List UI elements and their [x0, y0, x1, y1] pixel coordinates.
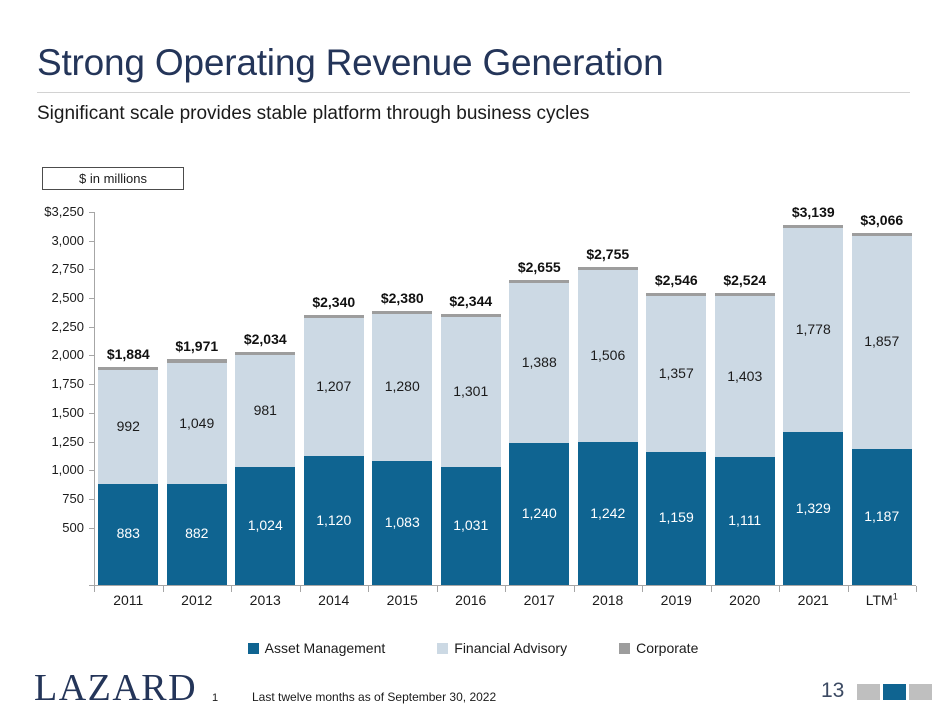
stacked-bar-chart: $3,2503,0002,7502,5002,2502,0001,7501,50… — [0, 0, 946, 727]
x-axis-label: 2015 — [368, 592, 437, 608]
y-axis-tick-label: $3,250 — [18, 204, 84, 219]
bar-segment-corporate[interactable] — [441, 314, 501, 317]
y-axis-tick — [89, 212, 95, 213]
bar-segment-asset-management[interactable]: 1,159 — [646, 452, 706, 585]
bar-value-label: 883 — [98, 525, 158, 541]
y-axis-tick-label: 2,500 — [18, 290, 84, 305]
y-axis-tick — [89, 499, 95, 500]
y-axis-tick-label: 1,500 — [18, 405, 84, 420]
x-axis-tick — [642, 586, 643, 592]
x-axis-label: 2017 — [505, 592, 574, 608]
bar-segment-asset-management[interactable]: 1,242 — [578, 442, 638, 585]
bar-group[interactable]: 1,024981$2,034 — [235, 352, 295, 585]
bar-group[interactable]: 1,1201,207$2,340 — [304, 315, 364, 585]
bar-value-label: 1,506 — [578, 347, 638, 363]
x-axis-tick — [779, 586, 780, 592]
bar-segment-financial-advisory[interactable]: 1,049 — [167, 363, 227, 483]
lazard-logo: LAZARD — [34, 669, 197, 707]
bar-value-label: 1,031 — [441, 517, 501, 533]
bar-value-label: 1,242 — [578, 505, 638, 521]
footnote-marker: 1 — [212, 692, 218, 704]
y-axis-tick-label: 1,250 — [18, 434, 84, 449]
y-axis-labels: $3,2503,0002,7502,5002,2502,0001,7501,50… — [12, 0, 84, 727]
bar-segment-financial-advisory[interactable]: 981 — [235, 355, 295, 468]
legend-item[interactable]: Corporate — [619, 640, 698, 656]
bar-group[interactable]: 1,0311,301$2,344 — [441, 314, 501, 585]
bar-total-label: $2,524 — [707, 272, 783, 288]
bar-group[interactable]: 1,2401,388$2,655 — [509, 280, 569, 585]
page-number: 13 — [821, 679, 844, 703]
bar-total-label: $3,139 — [775, 204, 851, 220]
x-axis-label: 2011 — [94, 592, 163, 608]
bar-segment-financial-advisory[interactable]: 1,280 — [372, 314, 432, 461]
x-axis-label: 2019 — [642, 592, 711, 608]
y-axis-tick-label: 750 — [18, 491, 84, 506]
bar-segment-financial-advisory[interactable]: 1,301 — [441, 317, 501, 466]
x-axis-label: 2016 — [437, 592, 506, 608]
bar-segment-financial-advisory[interactable]: 1,388 — [509, 283, 569, 442]
bar-value-label: 1,120 — [304, 512, 364, 528]
bar-value-label: 1,357 — [646, 365, 706, 381]
bar-value-label: 1,403 — [715, 368, 775, 384]
x-axis-label-footnote: 1 — [893, 591, 898, 601]
chart-legend: Asset ManagementFinancial AdvisoryCorpor… — [0, 640, 946, 656]
bar-value-label: 1,388 — [509, 354, 569, 370]
bar-segment-corporate[interactable] — [167, 359, 227, 364]
y-axis-tick — [89, 470, 95, 471]
bar-value-label: 1,024 — [235, 517, 295, 533]
x-axis-label: 2018 — [574, 592, 643, 608]
bar-segment-corporate[interactable] — [304, 315, 364, 318]
bar-value-label: 1,301 — [441, 383, 501, 399]
page-progress-dot — [883, 684, 906, 700]
x-axis-label: 2014 — [300, 592, 369, 608]
bar-segment-corporate[interactable] — [509, 280, 569, 283]
bar-value-label: 1,778 — [783, 321, 843, 337]
bar-segment-asset-management[interactable]: 1,187 — [852, 449, 912, 585]
legend-item[interactable]: Financial Advisory — [437, 640, 567, 656]
bar-group[interactable]: 883992$1,884 — [98, 367, 158, 585]
bar-value-label: 981 — [235, 402, 295, 418]
bar-total-label: $1,884 — [90, 346, 166, 362]
x-axis-tick — [94, 586, 95, 592]
bar-segment-asset-management[interactable]: 1,083 — [372, 461, 432, 585]
x-axis-tick — [163, 586, 164, 592]
bar-total-label: $2,655 — [501, 259, 577, 275]
x-axis-tick — [300, 586, 301, 592]
bar-group[interactable]: 1,0831,280$2,380 — [372, 311, 432, 585]
bar-value-label: 1,240 — [509, 505, 569, 521]
legend-swatch-icon — [437, 643, 448, 654]
y-axis-tick-label: 500 — [18, 520, 84, 535]
footnote-text: Last twelve months as of September 30, 2… — [252, 690, 496, 704]
y-axis-tick-label: 1,000 — [18, 462, 84, 477]
bar-value-label: 1,857 — [852, 333, 912, 349]
y-axis-tick — [89, 384, 95, 385]
y-axis-tick — [89, 241, 95, 242]
bar-segment-asset-management[interactable]: 1,024 — [235, 467, 295, 585]
x-axis-tick — [574, 586, 575, 592]
bar-value-label: 1,083 — [372, 514, 432, 530]
bar-segment-asset-management[interactable]: 882 — [167, 484, 227, 585]
bar-total-label: $2,380 — [364, 290, 440, 306]
x-axis-label: LTM1 — [848, 592, 917, 608]
bar-total-label: $3,066 — [844, 212, 920, 228]
bar-total-label: $2,034 — [227, 331, 303, 347]
bar-segment-financial-advisory[interactable]: 1,857 — [852, 236, 912, 449]
bar-segment-asset-management[interactable]: 883 — [98, 484, 158, 585]
bar-segment-asset-management[interactable]: 1,329 — [783, 432, 843, 585]
bar-segment-asset-management[interactable]: 1,031 — [441, 467, 501, 585]
bar-segment-corporate[interactable] — [98, 367, 158, 370]
bar-segment-asset-management[interactable]: 1,111 — [715, 457, 775, 585]
y-axis-tick — [89, 298, 95, 299]
bar-total-label: $1,971 — [159, 338, 235, 354]
bar-segment-financial-advisory[interactable]: 1,778 — [783, 228, 843, 432]
bar-total-label: $2,344 — [433, 293, 509, 309]
y-axis-tick — [89, 413, 95, 414]
bar-segment-corporate[interactable] — [783, 225, 843, 229]
y-axis-tick-label: 1,750 — [18, 376, 84, 391]
legend-label: Corporate — [636, 640, 698, 656]
y-axis-tick-label: 2,000 — [18, 347, 84, 362]
bar-group[interactable]: 1,2421,506$2,755 — [578, 267, 638, 585]
y-axis-tick — [89, 269, 95, 270]
bar-value-label: 1,159 — [646, 509, 706, 525]
bar-segment-corporate[interactable] — [372, 311, 432, 314]
legend-swatch-icon — [619, 643, 630, 654]
bar-value-label: 1,111 — [715, 512, 775, 528]
bar-group[interactable]: 8821,049$1,971 — [167, 359, 227, 585]
x-axis-tick — [437, 586, 438, 592]
x-axis-tick — [916, 586, 917, 592]
bar-segment-financial-advisory[interactable]: 1,506 — [578, 270, 638, 443]
bar-value-label: 992 — [98, 418, 158, 434]
bar-total-label: $2,546 — [638, 272, 714, 288]
bar-total-label: $2,340 — [296, 294, 372, 310]
bar-total-label: $2,755 — [570, 246, 646, 262]
page-progress-dot — [857, 684, 880, 700]
y-axis-tick — [89, 528, 95, 529]
x-axis-label: 2021 — [779, 592, 848, 608]
bar-value-label: 1,280 — [372, 378, 432, 394]
x-axis-label: 2013 — [231, 592, 300, 608]
bar-group[interactable]: 1,1871,857$3,066 — [852, 233, 912, 585]
x-axis-tick — [848, 586, 849, 592]
page-progress-dots — [857, 684, 932, 700]
bar-group[interactable]: 1,3291,778$3,139 — [783, 225, 843, 585]
y-axis-tick-label: 2,750 — [18, 261, 84, 276]
y-axis-tick-label: 3,000 — [18, 233, 84, 248]
legend-label: Financial Advisory — [454, 640, 567, 656]
x-axis-label: 2012 — [163, 592, 232, 608]
bar-segment-corporate[interactable] — [715, 293, 775, 296]
bar-segment-financial-advisory[interactable]: 1,207 — [304, 318, 364, 457]
y-axis-tick-label: 2,250 — [18, 319, 84, 334]
x-axis-label: 2020 — [711, 592, 780, 608]
y-axis-tick — [89, 442, 95, 443]
bar-segment-corporate[interactable] — [235, 352, 295, 355]
bar-segment-corporate[interactable] — [646, 293, 706, 296]
legend-item[interactable]: Asset Management — [248, 640, 386, 656]
page-progress-dot — [909, 684, 932, 700]
legend-label: Asset Management — [265, 640, 386, 656]
bar-value-label: 1,329 — [783, 500, 843, 516]
bar-value-label: 1,187 — [852, 508, 912, 524]
x-axis-tick — [231, 586, 232, 592]
bar-segment-corporate[interactable] — [852, 233, 912, 236]
bar-segment-asset-management[interactable]: 1,120 — [304, 456, 364, 585]
bar-group[interactable]: 1,1111,403$2,524 — [715, 293, 775, 585]
bar-value-label: 1,207 — [304, 378, 364, 394]
x-axis-tick — [711, 586, 712, 592]
x-axis-tick — [505, 586, 506, 592]
y-axis-tick — [89, 327, 95, 328]
bar-segment-financial-advisory[interactable]: 1,357 — [646, 296, 706, 452]
bar-segment-financial-advisory[interactable]: 992 — [98, 370, 158, 484]
bar-segment-corporate[interactable] — [578, 267, 638, 270]
bar-value-label: 882 — [167, 525, 227, 541]
bar-group[interactable]: 1,1591,357$2,546 — [646, 293, 706, 585]
bar-segment-financial-advisory[interactable]: 1,403 — [715, 296, 775, 457]
legend-swatch-icon — [248, 643, 259, 654]
bar-value-label: 1,049 — [167, 415, 227, 431]
x-axis-tick — [368, 586, 369, 592]
bar-segment-asset-management[interactable]: 1,240 — [509, 443, 569, 585]
